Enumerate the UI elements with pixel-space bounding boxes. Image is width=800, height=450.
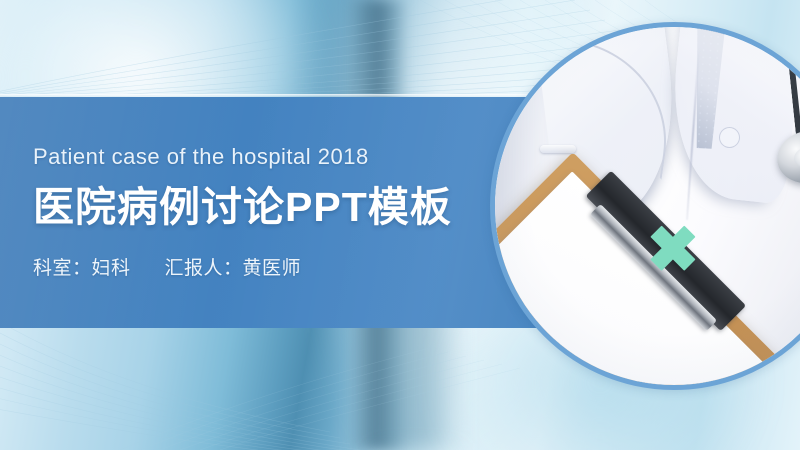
presenter-meta: 科室：妇科汇报人：黄医师 [33, 253, 301, 280]
presentation-slide: Patient case of the hospital 2018 医院病例讨论… [0, 0, 800, 450]
presenter-label: 汇报人： [165, 258, 243, 279]
english-subtitle: Patient case of the hospital 2018 [33, 144, 369, 170]
page-title: 医院病例讨论PPT模板 [33, 173, 452, 233]
eyeglasses-tip [540, 145, 576, 153]
department-label: 科室： [33, 258, 92, 279]
doctor-photo-image [495, 27, 800, 385]
title-text-block: Patient case of the hospital 2018 医院病例讨论… [33, 97, 503, 328]
presenter-value: 黄医师 [243, 258, 302, 279]
department-value: 妇科 [92, 258, 131, 279]
doctor-photo-circle [490, 22, 800, 390]
